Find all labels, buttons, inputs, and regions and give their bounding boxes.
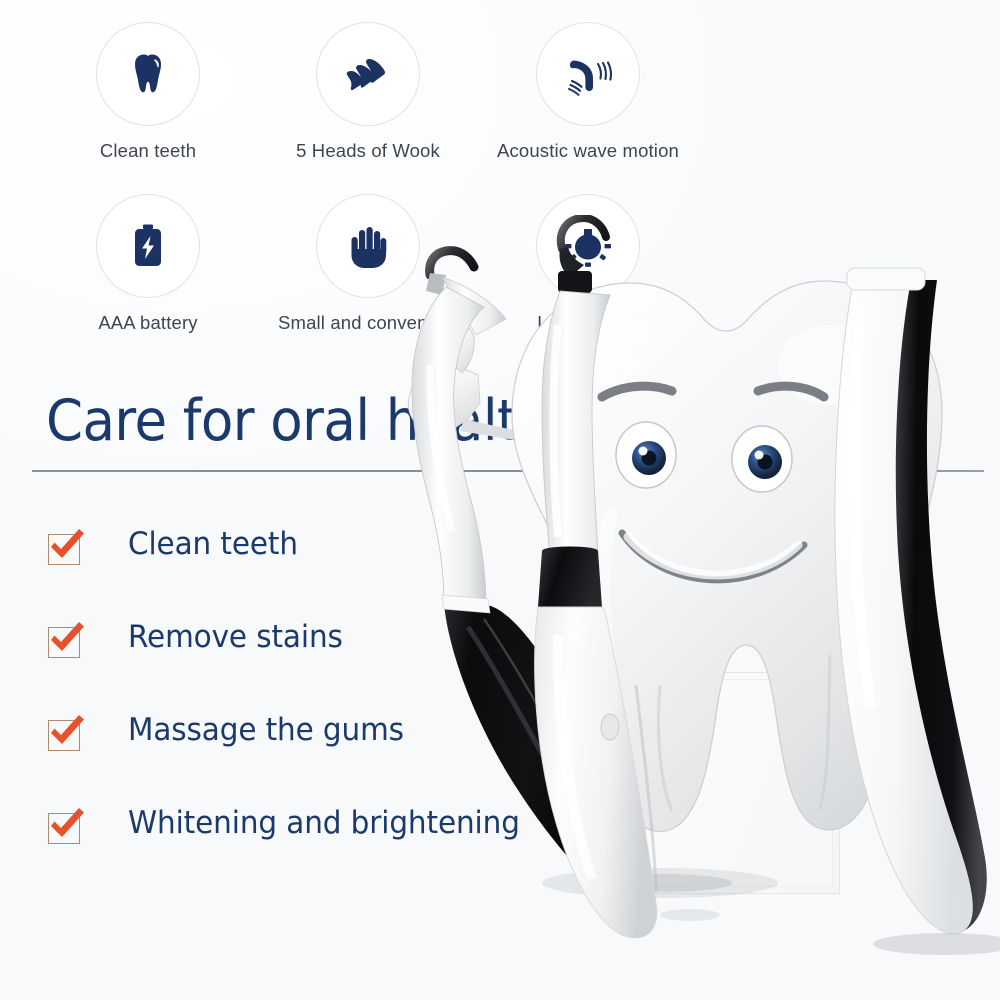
feature-label: 5 Heads of Wook: [296, 140, 440, 162]
benefits-checklist: Clean teeth Remove stains Massage the gu…: [44, 522, 564, 894]
checklist-label: Whitening and brightening: [128, 801, 520, 845]
feature-circle: [536, 22, 640, 126]
dental-scaler-right-silhouette: [795, 258, 1000, 958]
checklist-label: Massage the gums: [128, 708, 404, 752]
feature-label: Clean teeth: [100, 140, 196, 162]
feature-circle: [96, 22, 200, 126]
feature-label: Acoustic wave motion: [497, 140, 679, 162]
checkbox-wrap[interactable]: [44, 526, 86, 568]
feature-item-acoustic-wave[interactable]: Acoustic wave motion: [478, 22, 698, 194]
feature-circle: [96, 194, 200, 298]
feature-item-heads-of-wook[interactable]: 5 Heads of Wook: [258, 22, 478, 194]
checkbox-wrap[interactable]: [44, 805, 86, 847]
checklist-item[interactable]: Remove stains: [44, 615, 564, 708]
checkbox-wrap[interactable]: [44, 712, 86, 754]
checkmark-icon: [44, 617, 90, 663]
product-marketing-image: Clean teeth 5 Heads of Wook: [0, 0, 1000, 1000]
checklist-item[interactable]: Whitening and brightening: [44, 801, 564, 894]
feature-label: AAA battery: [98, 312, 197, 334]
tooth-icon: [125, 51, 171, 97]
feature-circle: [316, 22, 420, 126]
feature-item-clean-teeth[interactable]: Clean teeth: [38, 22, 258, 194]
checklist-item[interactable]: Clean teeth: [44, 522, 564, 615]
checkmark-icon: [44, 803, 90, 849]
battery-icon: [131, 223, 165, 269]
checkmark-icon: [44, 710, 90, 756]
checklist-item[interactable]: Massage the gums: [44, 708, 564, 801]
arrows-icon: [344, 51, 392, 97]
acoustic-wave-icon: [563, 51, 613, 97]
checkmark-icon: [44, 524, 90, 570]
checklist-label: Remove stains: [128, 615, 343, 659]
feature-item-aaa-battery[interactable]: AAA battery: [38, 194, 258, 366]
checkbox-wrap[interactable]: [44, 619, 86, 661]
checklist-label: Clean teeth: [128, 522, 298, 566]
